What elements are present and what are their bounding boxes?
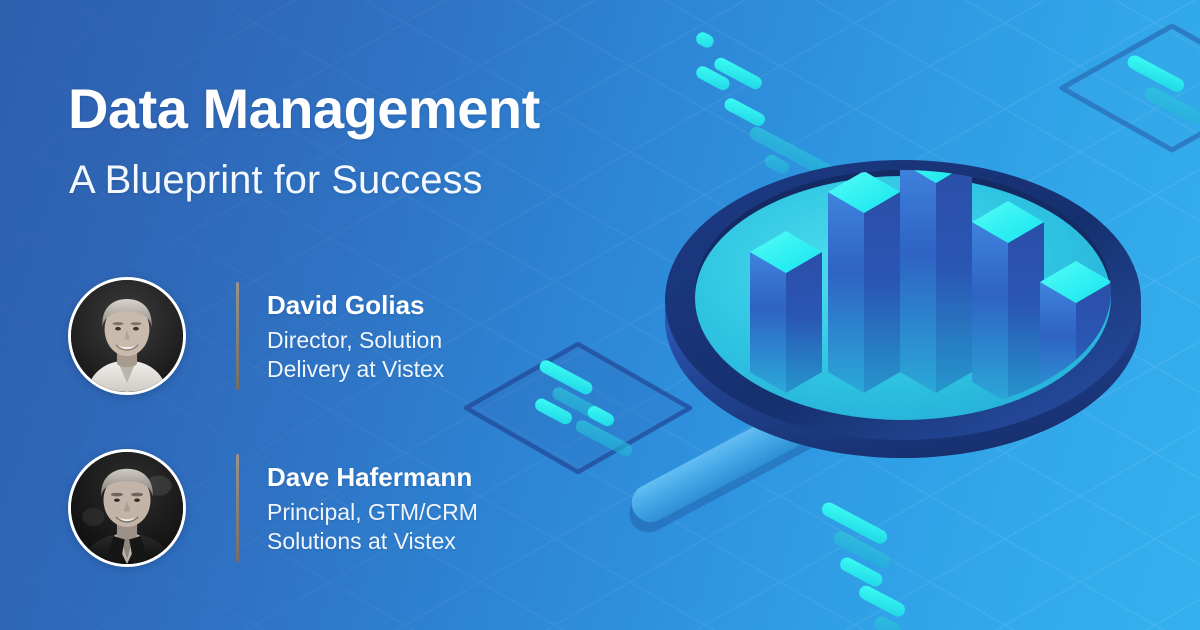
diamond-card-top-right (1062, 26, 1200, 150)
content-column: Data Management A Blueprint for Success (68, 0, 688, 630)
avatar (68, 449, 186, 567)
speaker-role: Director, Solution Delivery at Vistex (267, 326, 444, 383)
bar-3 (900, 141, 972, 393)
speaker-divider (236, 454, 239, 562)
speaker-role: Principal, GTM/CRM Solutions at Vistex (267, 498, 478, 555)
speaker-name: David Golias (267, 289, 444, 322)
magnifier-rim-front (665, 160, 1141, 458)
page-title: Data Management (68, 80, 540, 139)
speaker-card: Dave Hafermann Principal, GTM/CRM Soluti… (68, 449, 478, 567)
page-subtitle: A Blueprint for Success (69, 158, 483, 202)
bar-4 (972, 201, 1044, 403)
bar-1 (750, 231, 822, 393)
magnifier-illustration (600, 0, 1200, 630)
bar-chart-3d (750, 141, 1112, 418)
magnifier-rim (665, 160, 1141, 458)
speaker-divider (236, 282, 239, 390)
webinar-banner: Data Management A Blueprint for Success (0, 0, 1200, 630)
avatar-photo-dave-hafermann (71, 452, 183, 564)
bar-2 (828, 171, 900, 393)
speaker-name: Dave Hafermann (267, 461, 478, 494)
speaker-card: David Golias Director, Solution Delivery… (68, 277, 444, 395)
speaker-info: David Golias Director, Solution Delivery… (267, 289, 444, 384)
bar-5 (1040, 261, 1112, 418)
diagonal-bars-bottom (757, 500, 1037, 630)
avatar (68, 277, 186, 395)
speaker-info: Dave Hafermann Principal, GTM/CRM Soluti… (267, 461, 478, 556)
avatar-photo-david-golias (71, 280, 183, 392)
